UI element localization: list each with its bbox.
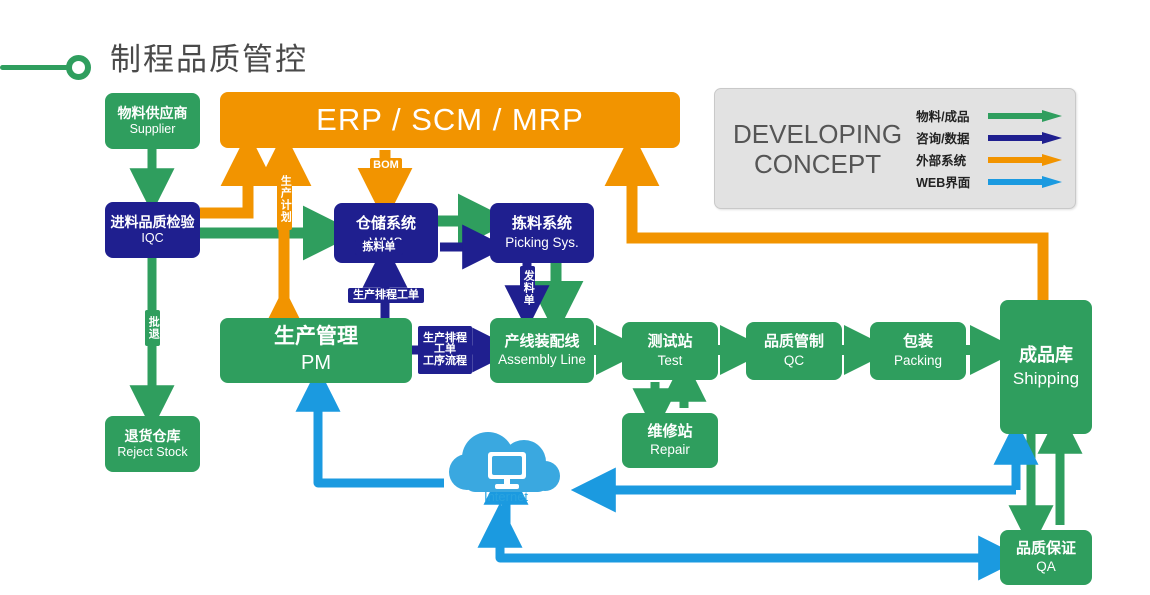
node-iqc-cn: 进料品质检验 — [111, 214, 195, 231]
legend-key-external-arrow-icon — [988, 154, 1064, 165]
legend-key-material-label: 物料/成品 — [916, 106, 980, 125]
node-qa-cn: 品质保证 — [1016, 540, 1076, 558]
legend-key-web: WEB界面 — [916, 172, 1064, 192]
legend-keys: 物料/成品 咨询/数据 外部系统 WEB界面 — [916, 106, 1064, 192]
node-internet-label: Internet — [444, 489, 568, 504]
node-assembly-line-cn: 产线装配线 — [504, 333, 579, 351]
tag-issue-list: 发料单 — [520, 266, 535, 310]
node-repair-cn: 维修站 — [647, 423, 692, 441]
legend-panel: DEVELOPING CONCEPT 物料/成品 咨询/数据 外部系统 — [714, 88, 1076, 209]
node-picking-system[interactable]: 拣料系统 Picking Sys. — [490, 203, 594, 263]
tag-production-plan: 生产计划 — [277, 168, 292, 230]
legend-key-material-arrow-icon — [988, 110, 1064, 121]
node-repair-en: Repair — [650, 442, 690, 458]
node-picking-system-en: Picking Sys. — [505, 235, 579, 251]
arrow-qa-internet-bottom — [500, 485, 998, 558]
node-qc-cn: 品质管制 — [764, 333, 824, 351]
node-assembly-line[interactable]: 产线装配线 Assembly Line — [490, 318, 594, 383]
node-reject-stock-en: Reject Stock — [117, 445, 187, 460]
node-test[interactable]: 测试站 Test — [622, 322, 718, 380]
tag-bom: BOM — [370, 158, 402, 173]
legend-heading: DEVELOPING CONCEPT — [733, 119, 902, 179]
tag-reject-batch: 批退 — [145, 310, 160, 346]
node-supplier[interactable]: 物料供应商 Supplier — [105, 93, 200, 149]
node-test-en: Test — [658, 353, 683, 369]
tag-work-order-pm-to-line: 生产排程 工单 工序流程 — [418, 326, 472, 374]
tag-work-order-wms: 生产排程工单 — [348, 288, 424, 303]
node-qa[interactable]: 品质保证 QA — [1000, 530, 1092, 585]
legend-heading-line1: DEVELOPING — [733, 119, 902, 149]
node-packing-en: Packing — [894, 353, 942, 369]
legend-key-material: 物料/成品 — [916, 106, 1064, 126]
node-wms-cn: 仓储系统 — [356, 215, 416, 233]
node-iqc-en: IQC — [141, 231, 163, 246]
erp-scm-mrp-banner[interactable]: ERP / SCM / MRP — [220, 92, 680, 148]
node-iqc[interactable]: 进料品质检验 IQC — [105, 202, 200, 258]
node-pm-en: PM — [301, 352, 331, 376]
node-supplier-cn: 物料供应商 — [118, 105, 188, 122]
legend-heading-line2: CONCEPT — [733, 149, 902, 179]
node-reject-stock-cn: 退货仓库 — [125, 428, 181, 445]
arrow-iqc-to-erp — [200, 162, 248, 213]
node-pm-cn: 生产管理 — [274, 325, 358, 350]
node-picking-system-cn: 拣料系统 — [512, 215, 572, 233]
legend-key-external-label: 外部系统 — [916, 150, 980, 169]
node-qc-en: QC — [784, 353, 804, 369]
node-shipping-cn: 成品库 — [1019, 345, 1073, 366]
erp-banner-label: ERP / SCM / MRP — [316, 102, 584, 138]
arrow-internet-to-pm — [318, 392, 444, 483]
node-assembly-line-en: Assembly Line — [498, 352, 586, 368]
node-reject-stock[interactable]: 退货仓库 Reject Stock — [105, 416, 200, 472]
node-pm[interactable]: 生产管理 PM — [220, 318, 412, 383]
node-shipping-en: Shipping — [1013, 369, 1079, 389]
legend-key-external: 外部系统 — [916, 150, 1064, 170]
node-internet[interactable]: Internet — [444, 430, 568, 518]
node-test-cn: 测试站 — [647, 333, 692, 351]
legend-key-data-arrow-icon — [988, 132, 1064, 143]
node-shipping[interactable]: 成品库 Shipping — [1000, 300, 1092, 434]
tag-work-order-line3: 工序流程 — [423, 356, 467, 368]
tag-picking-list: 拣料单 — [355, 240, 403, 255]
legend-key-data: 咨询/数据 — [916, 128, 1064, 148]
legend-key-data-label: 咨询/数据 — [916, 128, 980, 147]
legend-key-web-label: WEB界面 — [916, 172, 980, 191]
diagram-canvas: 制程品质管控 — [0, 0, 1150, 595]
node-supplier-en: Supplier — [130, 122, 176, 137]
node-qc[interactable]: 品质管制 QC — [746, 322, 842, 380]
node-packing[interactable]: 包装 Packing — [870, 322, 966, 380]
node-packing-cn: 包装 — [903, 333, 933, 351]
legend-key-web-arrow-icon — [988, 176, 1064, 187]
node-qa-en: QA — [1036, 559, 1056, 575]
node-repair[interactable]: 维修站 Repair — [622, 413, 718, 468]
